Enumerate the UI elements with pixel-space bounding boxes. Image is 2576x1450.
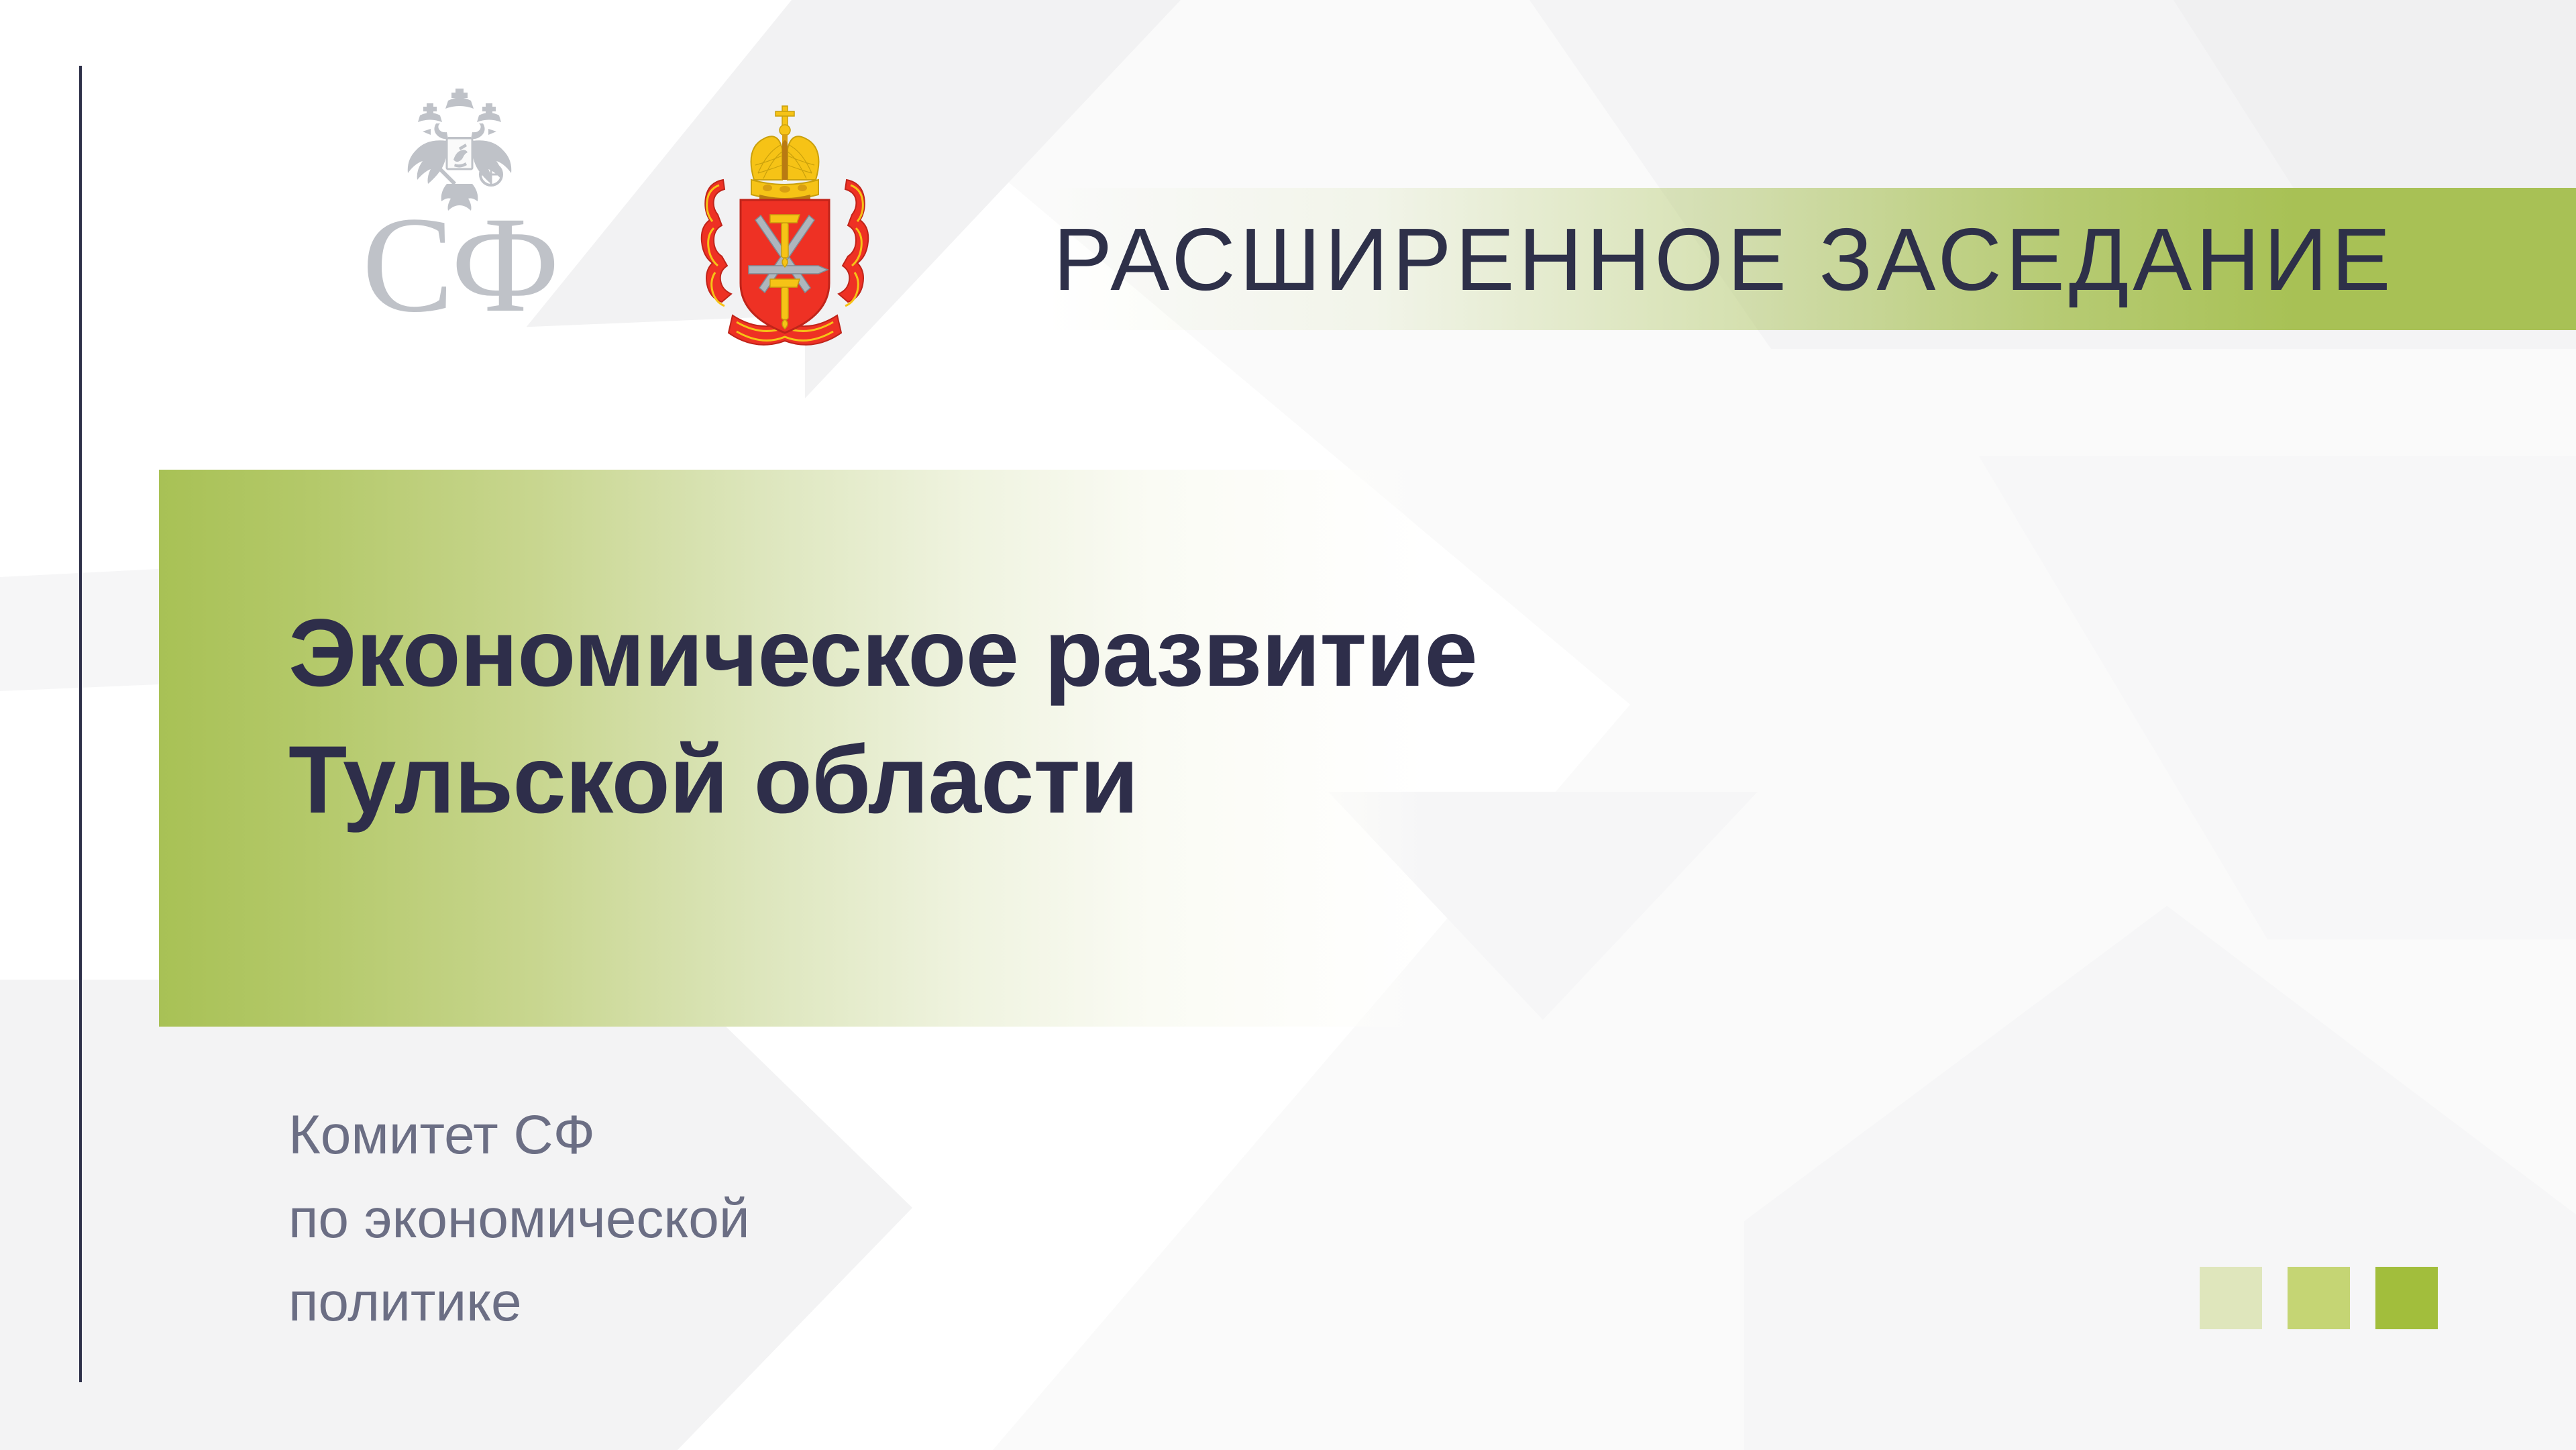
decorative-squares	[2200, 1267, 2438, 1329]
federation-council-logo: СФ	[288, 81, 631, 362]
emblem-row: СФ	[288, 81, 892, 362]
decorative-square-medium	[2288, 1267, 2350, 1329]
decorative-square-light	[2200, 1267, 2262, 1329]
sf-logo-letters: СФ	[288, 196, 631, 333]
page-title: Экономическое развитие Тульской области	[288, 590, 1898, 844]
committee-subtitle: Комитет СФ по экономической политике	[288, 1094, 1228, 1345]
tula-oblast-coat-of-arms-icon	[684, 101, 885, 382]
decorative-square-dark	[2375, 1267, 2438, 1329]
presentation-slide: РАСШИРЕННОЕ ЗАСЕДАНИЕ	[0, 0, 2576, 1450]
header-title: РАСШИРЕННОЕ ЗАСЕДАНИЕ	[1053, 192, 2395, 326]
